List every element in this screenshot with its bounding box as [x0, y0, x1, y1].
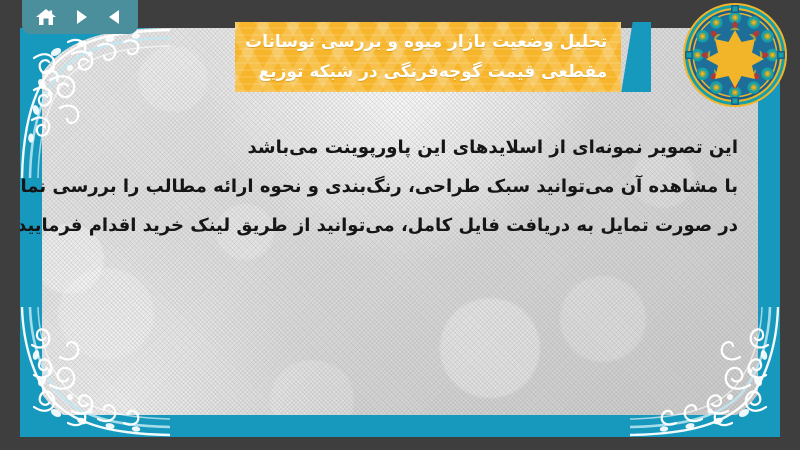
title-line-1: تحلیل وضعیت بازار میوه و بررسی نوسانات [245, 27, 607, 57]
slide-title-banner: تحلیل وضعیت بازار میوه و بررسی نوسانات م… [235, 22, 651, 92]
slide-body-text: این تصویر نمونه‌ای از اسلایدهای این پاور… [58, 128, 738, 245]
bokeh-light [440, 298, 540, 398]
body-line-2: با مشاهده آن می‌توانید سبک طراحی، رنگ‌بن… [58, 167, 738, 206]
body-line-1: این تصویر نمونه‌ای از اسلایدهای این پاور… [58, 128, 738, 167]
arabesque-corner-bottom-right [630, 307, 780, 437]
next-slide-button[interactable] [71, 7, 91, 27]
slide-viewer: این تصویر نمونه‌ای از اسلایدهای این پاور… [0, 0, 800, 450]
persian-medallion-ornament [682, 2, 788, 108]
home-icon[interactable] [35, 7, 57, 27]
slide-navigation-bar [22, 0, 138, 34]
arabesque-corner-bottom-left [20, 307, 170, 437]
title-line-2: مقطعی قیمت گوجه‌فرنگی در شبکه توزیع [245, 57, 607, 87]
banner-teal-cap [621, 22, 651, 92]
body-line-3: در صورت تمایل به دریافت فایل کامل، می‌تو… [58, 206, 738, 245]
banner-gold-body: تحلیل وضعیت بازار میوه و بررسی نوسانات م… [235, 22, 621, 92]
previous-slide-button[interactable] [105, 7, 125, 27]
